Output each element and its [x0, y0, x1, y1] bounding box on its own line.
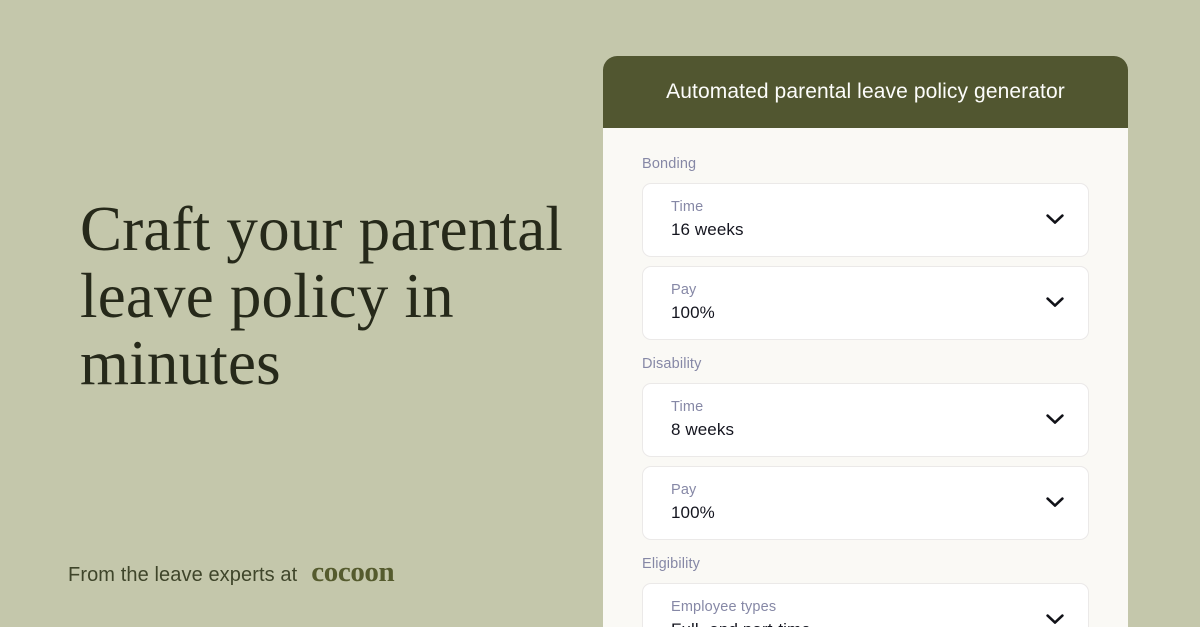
hero-footer: From the leave experts at cocoon [68, 556, 394, 589]
field-value: 8 weeks [671, 418, 734, 441]
field-disability-time[interactable]: Time 8 weeks [642, 383, 1089, 457]
section-label-bonding: Bonding [642, 156, 1089, 172]
section-bonding: Bonding Time 16 weeks Pay 100% [642, 156, 1089, 340]
section-label-disability: Disability [642, 356, 1089, 372]
field-label: Employee types [671, 598, 811, 617]
section-eligibility: Eligibility Employee types Full- and par… [642, 556, 1089, 627]
page-title: Craft your parental leave policy in minu… [80, 196, 580, 397]
panel-header-title: Automated parental leave policy generato… [666, 80, 1065, 104]
field-value: 100% [671, 301, 715, 324]
hero-footer-text: From the leave experts at [68, 564, 297, 587]
field-text: Pay 100% [671, 281, 715, 324]
chevron-down-icon[interactable] [1044, 209, 1066, 231]
chevron-down-icon[interactable] [1044, 292, 1066, 314]
field-eligibility-employee-types[interactable]: Employee types Full- and part-time [642, 583, 1089, 627]
field-label: Time [671, 398, 734, 417]
panel-header: Automated parental leave policy generato… [603, 56, 1128, 128]
chevron-down-icon[interactable] [1044, 409, 1066, 431]
section-label-eligibility: Eligibility [642, 556, 1089, 572]
field-value: 16 weeks [671, 218, 744, 241]
field-text: Time 8 weeks [671, 398, 734, 441]
field-text: Time 16 weeks [671, 198, 744, 241]
hero-section: Craft your parental leave policy in minu… [0, 0, 603, 627]
field-value: 100% [671, 501, 715, 524]
cocoon-logo: cocoon [311, 556, 394, 589]
field-value: Full- and part-time [671, 618, 811, 627]
field-text: Employee types Full- and part-time [671, 598, 811, 627]
chevron-down-icon[interactable] [1044, 492, 1066, 514]
field-disability-pay[interactable]: Pay 100% [642, 466, 1089, 540]
policy-generator-panel: Automated parental leave policy generato… [603, 56, 1128, 627]
field-bonding-pay[interactable]: Pay 100% [642, 266, 1089, 340]
panel-body: Bonding Time 16 weeks Pay 100% [603, 128, 1128, 627]
chevron-down-icon[interactable] [1044, 609, 1066, 627]
field-bonding-time[interactable]: Time 16 weeks [642, 183, 1089, 257]
field-text: Pay 100% [671, 481, 715, 524]
field-label: Time [671, 198, 744, 217]
section-disability: Disability Time 8 weeks Pay 100% [642, 356, 1089, 540]
field-label: Pay [671, 281, 715, 300]
field-label: Pay [671, 481, 715, 500]
